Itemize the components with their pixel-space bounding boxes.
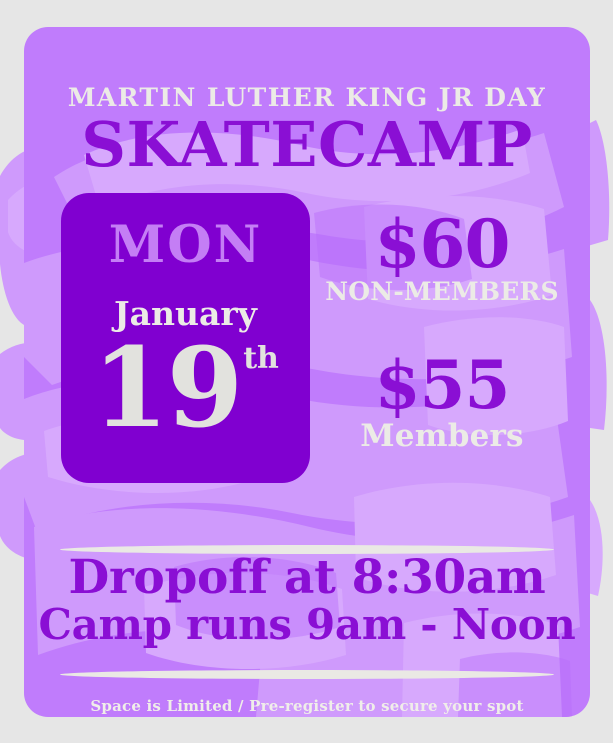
fineprint-note: Space is Limited / Pre-register to secur…: [24, 697, 590, 715]
price-members: $55 Members: [317, 352, 567, 453]
page-title: SKATECAMP: [24, 112, 590, 177]
card-content: MARTIN LUTHER KING JR DAY SKATECAMP MON …: [24, 27, 590, 717]
flyer-card: MARTIN LUTHER KING JR DAY SKATECAMP MON …: [24, 27, 590, 717]
flyer-poster: MARTIN LUTHER KING JR DAY SKATECAMP MON …: [0, 0, 613, 743]
price-nonmembers-label: NON-MEMBERS: [317, 279, 567, 305]
schedule-runs: Camp runs 9am - Noon: [24, 604, 590, 646]
date-ordinal-suffix: th: [243, 341, 279, 376]
schedule-dropoff: Dropoff at 8:30am: [24, 554, 590, 601]
price-nonmembers-amount: $60: [317, 211, 567, 277]
date-day-number-row: 19th: [61, 333, 310, 443]
date-day-of-week: MON: [61, 220, 310, 271]
price-members-label: Members: [317, 420, 567, 453]
price-nonmembers: $60 NON-MEMBERS: [317, 211, 567, 305]
divider-bottom: [60, 670, 554, 679]
price-members-amount: $55: [317, 352, 567, 418]
date-card: MON January 19th: [61, 193, 310, 483]
date-day-number: 19: [92, 323, 241, 452]
